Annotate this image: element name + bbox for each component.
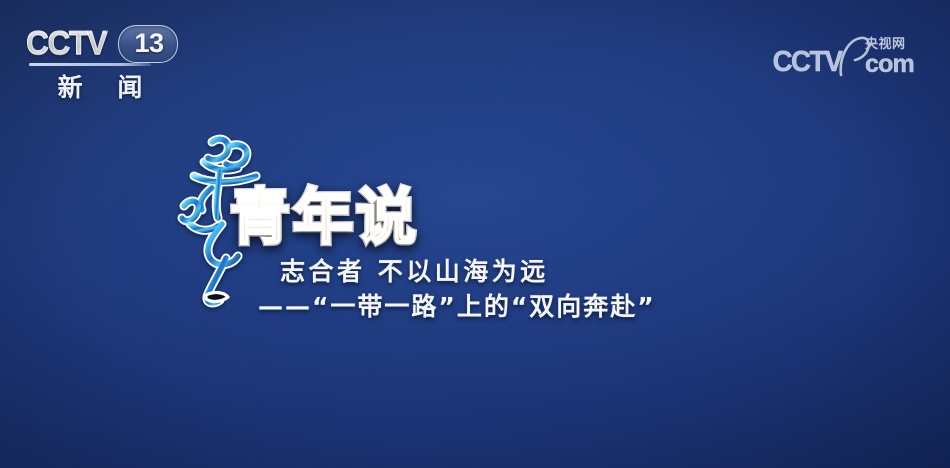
channel-number: 13 [125,28,173,59]
cctv-com-watermark: CCTV 央视网 com [769,33,914,77]
program-name: 青年说 [230,188,419,248]
watermark-text-stack: 央视网 com [865,38,914,77]
subtitle-line-1: 志合者 不以山海为远 [280,256,656,288]
subtitle-line-2: ——“一带一路”上的“双向奔赴” [258,291,656,323]
watermark-swoosh-icon [837,35,871,77]
program-title-card: 青年说 青年说 志合者 不以山海为远 ——“一带一路”上的“双向奔赴” [168,132,808,322]
cctv-wordmark: CCTV [26,24,106,62]
watermark-site-tld: com [865,52,914,77]
channel-bug-underline [29,63,151,66]
cctv-13-channel-bug: CCTV 13 新 闻 [26,24,186,102]
channel-bug-logo-row: CCTV 13 [26,24,186,66]
channel-name-label: 新 闻 [40,68,160,104]
broadcast-screen: CCTV 13 新 闻 CCTV 央视网 com [0,0,950,468]
watermark-cctv-wordmark: CCTV [773,48,842,77]
program-subtitle: 志合者 不以山海为远 ——“一带一路”上的“双向奔赴” [280,256,656,322]
